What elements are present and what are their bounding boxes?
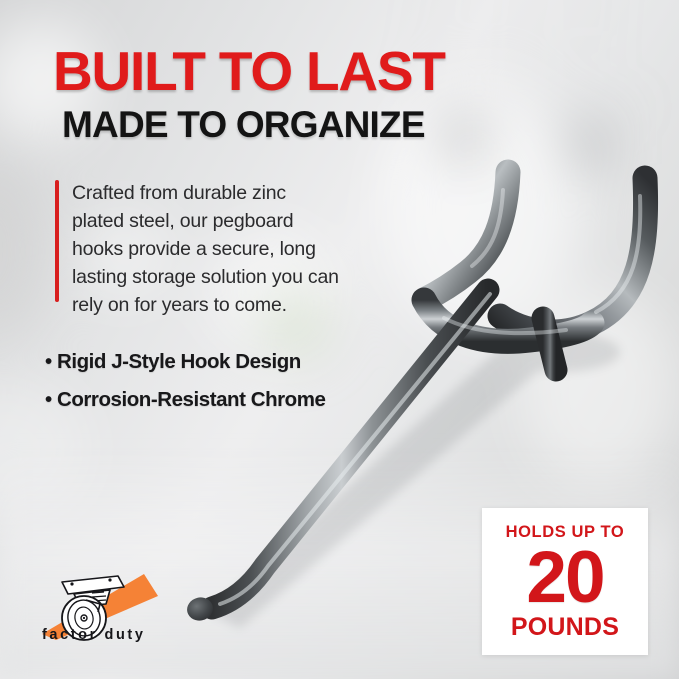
list-item: • Rigid J-Style Hook Design	[45, 350, 445, 374]
description-text: Crafted from durable zinc plated steel, …	[72, 180, 340, 319]
headline-primary: BUILT TO LAST	[53, 44, 445, 99]
badge-weight-unit: POUNDS	[511, 613, 619, 642]
list-item: • Corrosion-Resistant Chrome	[45, 388, 445, 412]
badge-weight-value: 20	[526, 544, 603, 611]
feature-list: • Rigid J-Style Hook Design • Corrosion-…	[45, 350, 445, 426]
brand-name: factor duty	[42, 627, 146, 643]
capacity-badge: HOLDS UP TO 20 POUNDS	[482, 508, 648, 655]
promo-banner: BUILT TO LAST MADE TO ORGANIZE Crafted f…	[0, 0, 679, 679]
red-accent-bar	[55, 180, 59, 302]
headline-secondary: MADE TO ORGANIZE	[62, 106, 425, 143]
